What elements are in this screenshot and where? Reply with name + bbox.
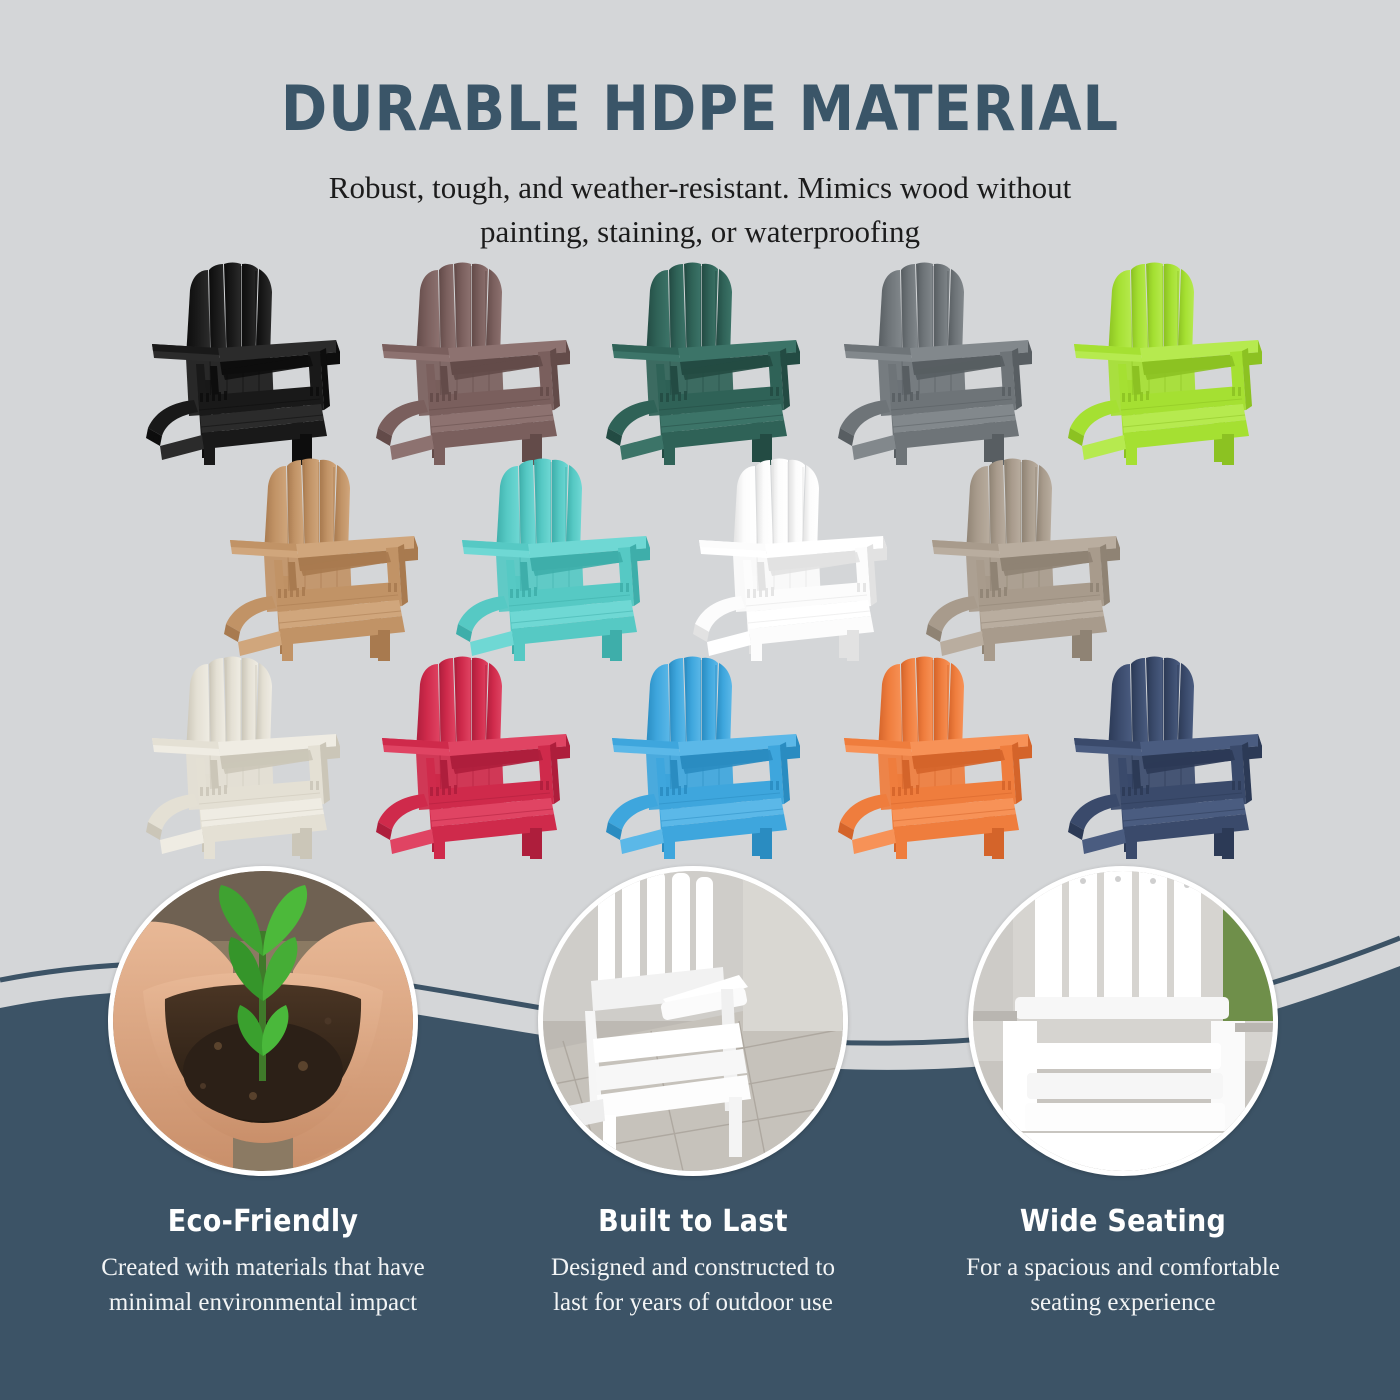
page-title: DURABLE HDPE MATERIAL (0, 78, 1400, 140)
chair-row-3 (0, 654, 1400, 852)
chair-row-1 (0, 258, 1400, 456)
feature-image-eco-friendly (108, 866, 418, 1176)
feature-desc-line-1: Designed and constructed to (486, 1251, 900, 1286)
chair-swatch-white[interactable] (687, 456, 902, 661)
feature-title-eco-friendly: Eco-Friendly (48, 1204, 478, 1239)
feature-desc-built-to-last: Designed and constructed to last for yea… (478, 1251, 908, 1320)
chair-swatch-ivory[interactable] (140, 654, 355, 859)
chair-swatch-navy-blue[interactable] (1062, 654, 1277, 859)
feature-desc-eco-friendly: Created with materials that have minimal… (48, 1251, 478, 1320)
chair-swatch-black[interactable] (140, 260, 355, 465)
feature-desc-line-2: last for years of outdoor use (486, 1286, 900, 1321)
feature-built-to-last: Built to Last Designed and constructed t… (478, 866, 908, 1320)
subtitle-line-1: Robust, tough, and weather-resistant. Mi… (200, 166, 1200, 210)
feature-desc-wide-seating: For a spacious and comfortable seating e… (908, 1251, 1338, 1320)
feature-image-wide-seating (968, 866, 1278, 1176)
chair-swatch-orange[interactable] (832, 654, 1047, 859)
feature-title-wide-seating: Wide Seating (908, 1204, 1338, 1239)
chair-swatch-brown[interactable] (370, 260, 585, 465)
feature-list: Eco-Friendly Created with materials that… (0, 866, 1400, 1400)
feature-wide-seating: Wide Seating For a spacious and comforta… (908, 866, 1338, 1320)
header: DURABLE HDPE MATERIAL Robust, tough, and… (0, 0, 1400, 254)
chair-swatch-turquoise[interactable] (450, 456, 665, 661)
chair-swatch-red[interactable] (370, 654, 585, 859)
feature-desc-line-1: Created with materials that have (56, 1251, 470, 1286)
chair-row-2 (0, 456, 1400, 654)
chair-swatch-lime-green[interactable] (1062, 260, 1277, 465)
feature-eco-friendly: Eco-Friendly Created with materials that… (48, 866, 478, 1320)
chair-swatch-gray[interactable] (832, 260, 1047, 465)
chair-swatch-dark-green[interactable] (600, 260, 815, 465)
feature-title-built-to-last: Built to Last (478, 1204, 908, 1239)
feature-desc-line-2: seating experience (916, 1286, 1330, 1321)
subtitle-line-2: painting, staining, or waterproofing (200, 210, 1200, 254)
feature-desc-line-2: minimal environmental impact (56, 1286, 470, 1321)
chair-color-grid (0, 258, 1400, 852)
feature-desc-line-1: For a spacious and comfortable (916, 1251, 1330, 1286)
chair-swatch-taupe[interactable] (920, 456, 1135, 661)
infographic-canvas: DURABLE HDPE MATERIAL Robust, tough, and… (0, 0, 1400, 1400)
page-subtitle: Robust, tough, and weather-resistant. Mi… (200, 166, 1200, 254)
chair-swatch-light-blue[interactable] (600, 654, 815, 859)
feature-image-built-to-last (538, 866, 848, 1176)
chair-swatch-teak[interactable] (218, 456, 433, 661)
